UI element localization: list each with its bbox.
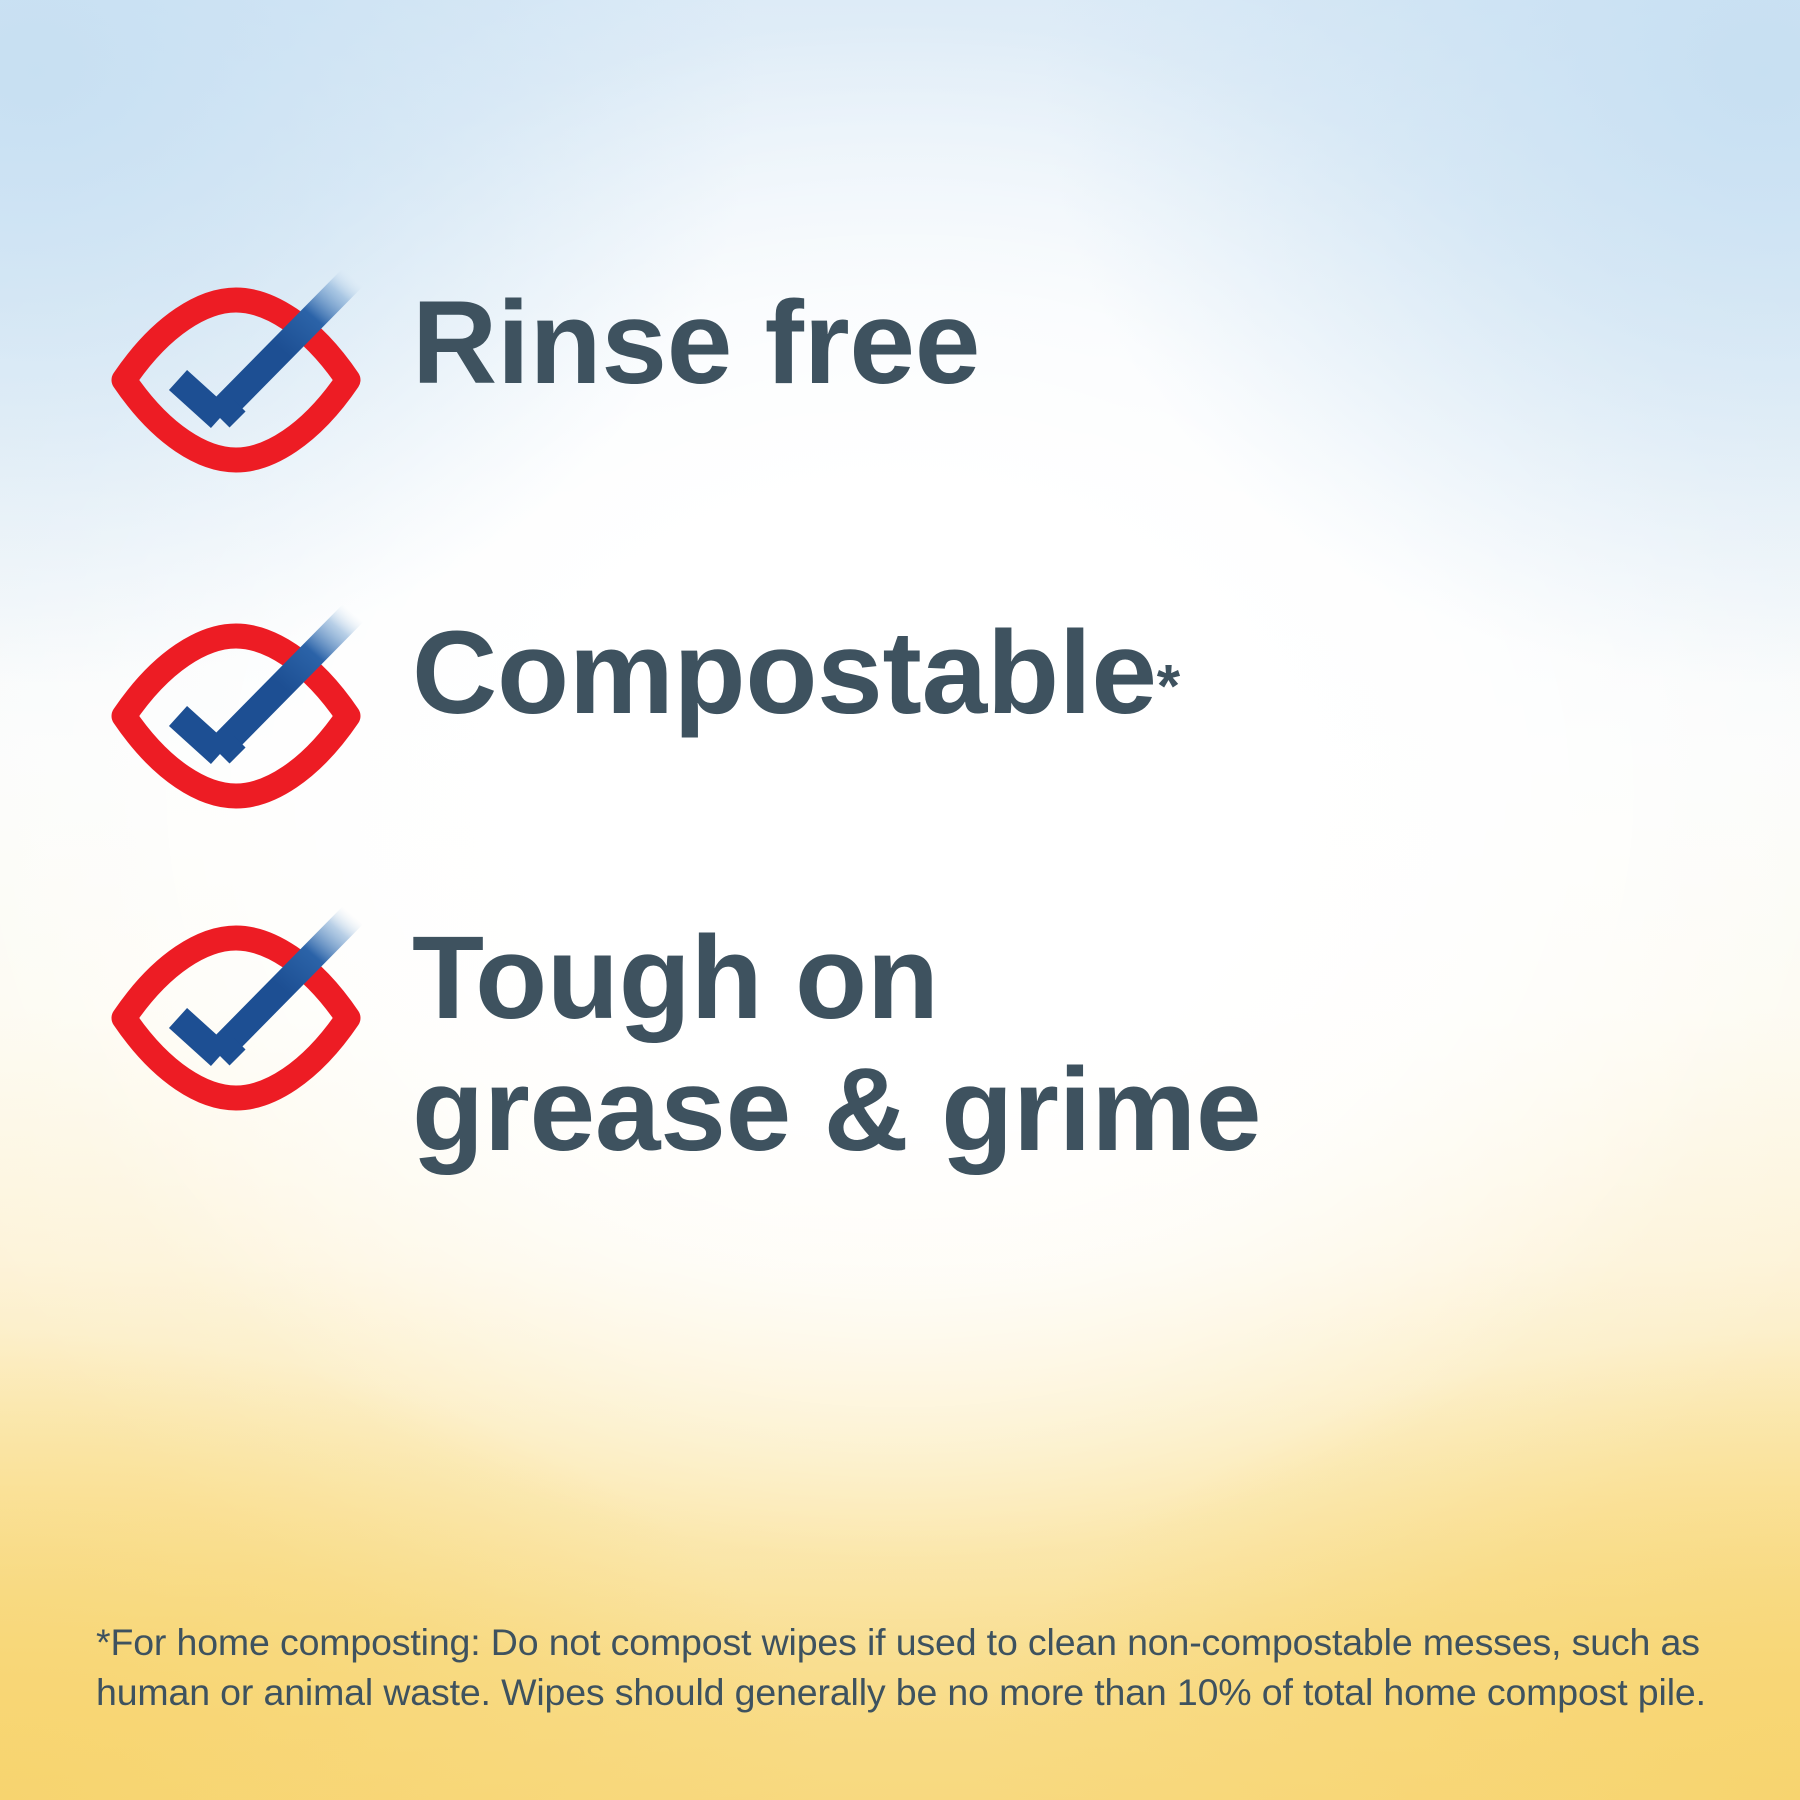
benefit-row: Compostable*	[0, 598, 1800, 798]
benefit-headline: Tough on grease & grime	[412, 912, 1261, 1176]
red-lens-blue-checkmark-icon	[108, 598, 368, 798]
benefit-text-block: Tough on grease & grime	[412, 900, 1800, 1176]
benefit-asterisk: *	[1157, 653, 1180, 720]
red-lens-blue-checkmark-icon	[108, 900, 368, 1100]
benefit-headline: Compostable	[412, 607, 1157, 739]
red-lens-blue-checkmark-icon	[108, 262, 368, 462]
benefit-text-block: Rinse free	[412, 262, 1800, 402]
product-benefits-infographic: Rinse free	[0, 0, 1800, 1800]
benefit-row: Rinse free	[0, 262, 1800, 462]
compostable-footnote: *For home composting: Do not compost wip…	[96, 1618, 1716, 1718]
benefit-headline: Rinse free	[412, 277, 980, 409]
content-layer: Rinse free	[0, 0, 1800, 1800]
benefit-row: Tough on grease & grime	[0, 900, 1800, 1176]
benefit-text-block: Compostable*	[412, 598, 1800, 732]
